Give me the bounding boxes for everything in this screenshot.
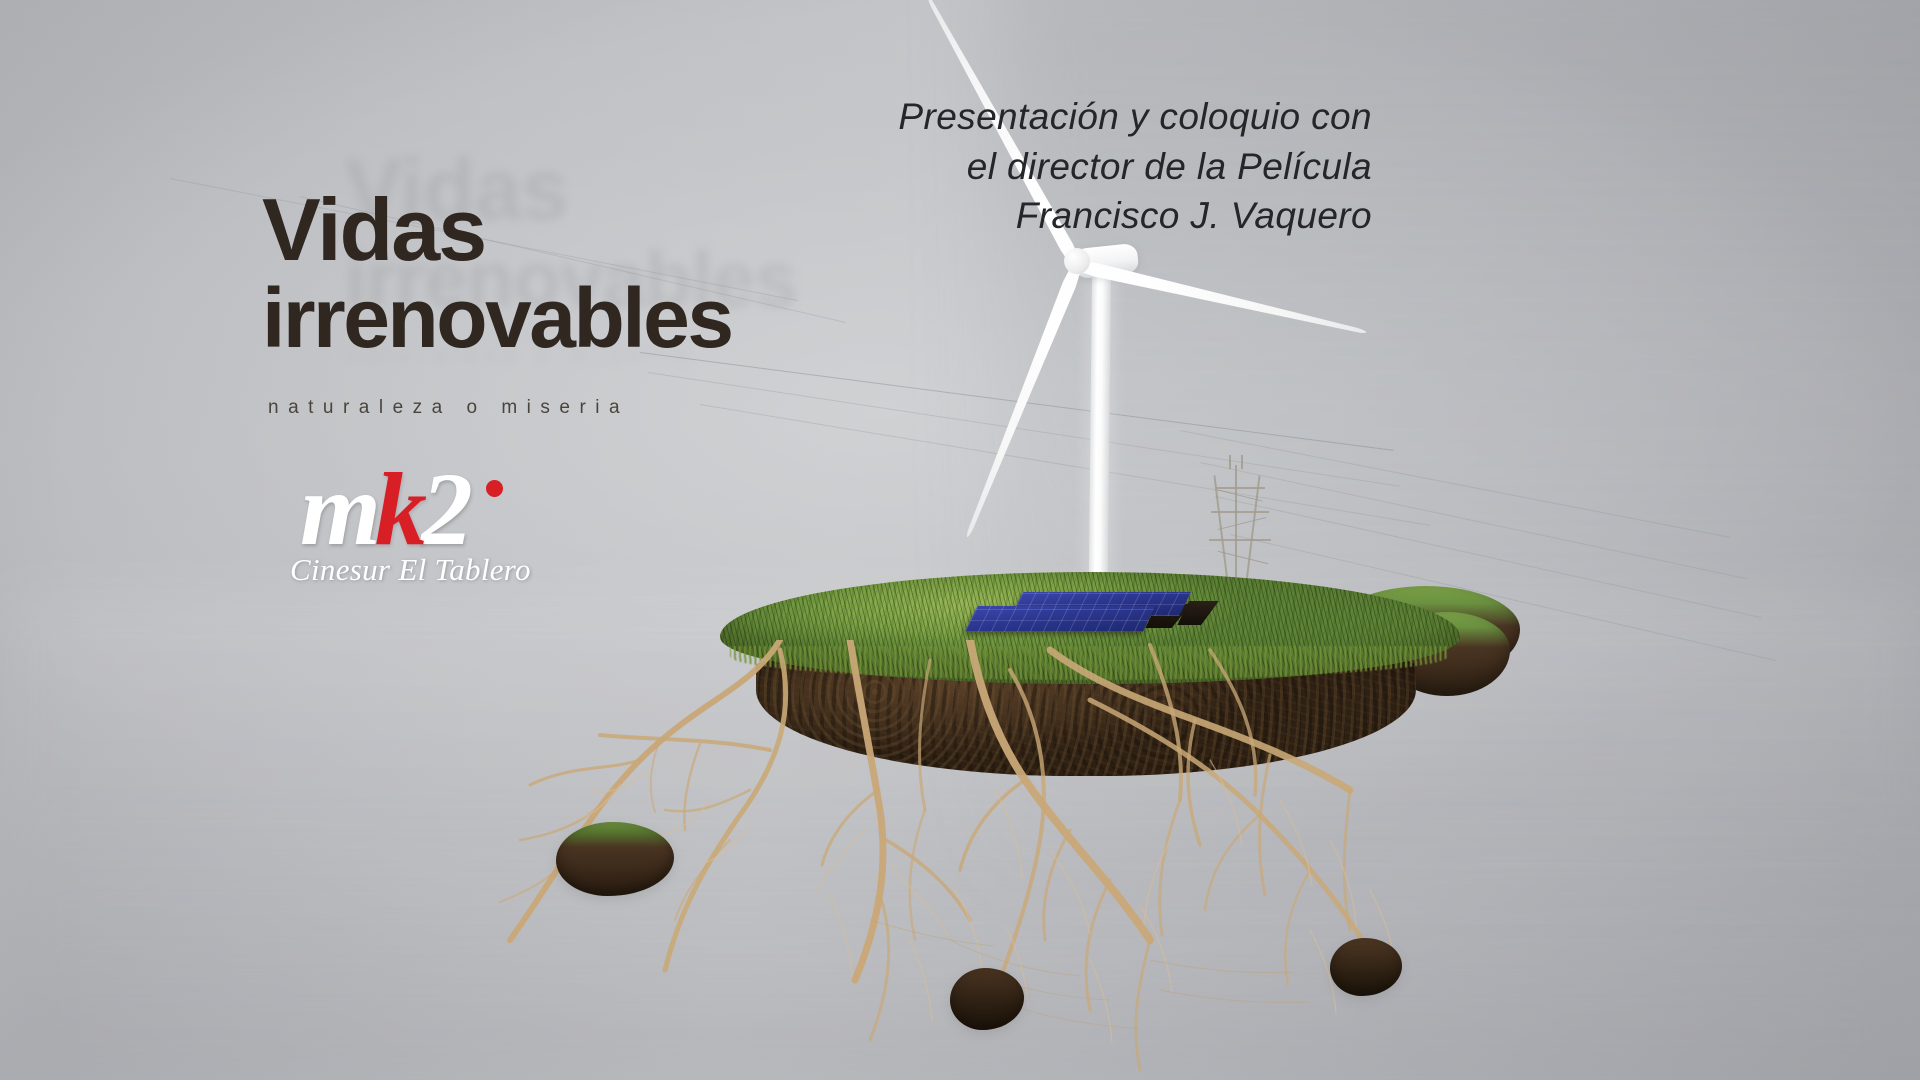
mk2-logo[interactable]: mk2 Cinesur El Tablero	[300, 462, 600, 602]
turbine-hub	[1064, 248, 1090, 274]
title-line-1: Vidas	[262, 188, 732, 272]
poster-canvas: Vidas irrenovables naturaleza o miseria	[0, 0, 1920, 1080]
mk2-wordmark: mk2	[300, 462, 600, 558]
solar-panel-array	[965, 584, 1235, 646]
page-title: Vidas irrenovables naturaleza o miseria	[262, 188, 732, 419]
mk2-letter-m: m	[300, 452, 375, 567]
mk2-letter-2: 2	[421, 452, 467, 567]
mk2-letter-k: k	[375, 452, 421, 567]
credits-line-3: Francisco J. Vaquero	[898, 191, 1372, 241]
solar-panel-row-front	[965, 606, 1156, 632]
title-tagline: naturaleza o miseria	[268, 397, 732, 419]
credits-line-1: Presentación y coloquio con	[898, 92, 1372, 142]
credits-block: Presentación y coloquio con el director …	[898, 92, 1372, 241]
title-line-2: irrenovables	[262, 278, 732, 359]
credits-line-2: el director de la Película	[898, 142, 1372, 192]
turbine-blade-2	[1072, 258, 1368, 340]
mk2-red-dot-icon	[486, 480, 503, 497]
